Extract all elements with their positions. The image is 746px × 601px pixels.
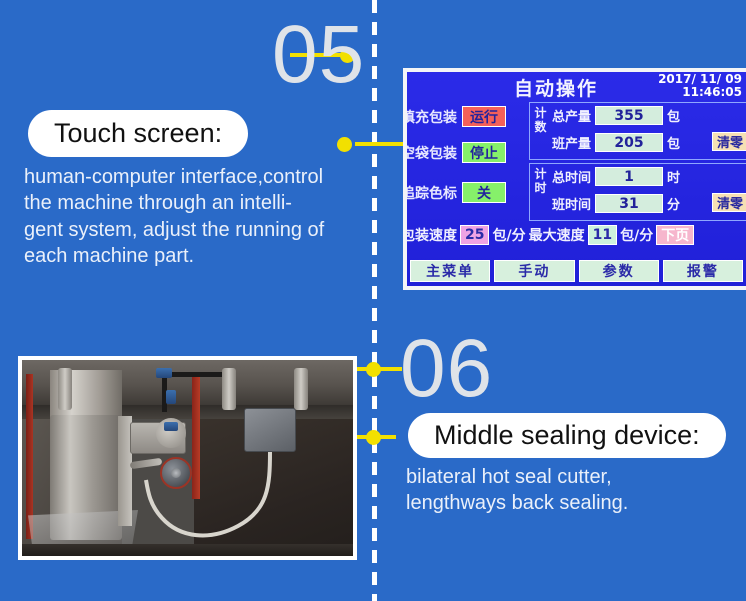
- slide-root: 05 Touch screen: human-computer interfac…: [0, 0, 746, 601]
- hmi-menu-button-main[interactable]: 主菜单: [410, 260, 490, 282]
- hmi-status-button-empty-bag[interactable]: 停止: [462, 142, 506, 163]
- hmi-status-row-color-mark: 追踪色标 关: [407, 182, 506, 203]
- photo-tube-fitting-1: [156, 368, 172, 378]
- step-description-06: bilateral hot seal cutter, lengthways ba…: [406, 464, 736, 517]
- hmi-group-count-tag: 计数: [533, 107, 548, 135]
- hmi-menu-button-alarm[interactable]: 报警: [663, 260, 743, 282]
- photo-guide-rod-3: [294, 368, 308, 410]
- hmi-status-button-color-mark[interactable]: 关: [462, 182, 506, 203]
- hmi-label-shift-output: 班产量: [552, 133, 591, 152]
- machine-photo: [22, 360, 353, 556]
- hmi-unit-shift-time: 分: [667, 194, 680, 213]
- hmi-unit-total-time: 时: [667, 167, 680, 186]
- photo-red-post-left: [26, 374, 33, 539]
- hmi-title: 自动操作: [514, 74, 598, 101]
- hmi-unit-total-output: 包: [667, 106, 680, 125]
- vertical-dashed-divider: [372, 0, 377, 601]
- photo-guide-rod-2: [222, 368, 236, 410]
- connector-dot-step-05-screen: [337, 137, 352, 152]
- hmi-label-max-speed: 最大速度: [529, 225, 585, 245]
- photo-sensor-cable: [118, 452, 303, 556]
- hmi-status-button-fill-packing[interactable]: 运行: [462, 106, 506, 127]
- hmi-menu-button-parameters[interactable]: 参数: [579, 260, 659, 282]
- connector-dot-step-06-number: [366, 362, 381, 377]
- hmi-status-row-empty-bag: 空袋包装 停止: [407, 142, 506, 163]
- hmi-time: 11:46:05: [682, 86, 742, 100]
- hmi-menu-button-manual[interactable]: 手动: [494, 260, 574, 282]
- hmi-row-total-time: 总时间 1 时: [552, 167, 680, 186]
- hmi-next-page-button[interactable]: 下页: [656, 225, 694, 245]
- hmi-group-timer: 计时 总时间 1 时 班时间 31 分: [529, 163, 746, 221]
- hmi-value-packing-speed[interactable]: 25: [460, 225, 489, 245]
- hmi-speed-bar: 包装速度 25 包/分 最大速度 11 包/分 下页: [407, 224, 746, 246]
- hmi-label-shift-time: 班时间: [552, 194, 591, 213]
- photo-tube-fitting-2: [166, 390, 176, 404]
- hmi-label-total-time: 总时间: [552, 167, 591, 186]
- hmi-row-total-output: 总产量 355 包: [552, 106, 680, 125]
- photo-floor-shadow: [22, 544, 353, 556]
- hmi-value-max-speed[interactable]: 11: [588, 225, 617, 245]
- step-number-06: 06: [400, 328, 493, 410]
- hmi-menu-bar: 主菜单 手动 参数 报警: [407, 258, 746, 284]
- photo-tube-fitting-3: [164, 422, 178, 431]
- hmi-group-count: 计数 总产量 355 包 班产量 205 包: [529, 102, 746, 160]
- hmi-group-timer-tag: 计时: [533, 168, 548, 196]
- hmi-header: 自动操作 2017/ 11/ 09 11:46:05: [407, 72, 746, 102]
- machine-photo-frame: [18, 356, 357, 560]
- hmi-label-total-output: 总产量: [552, 106, 591, 125]
- hmi-row-shift-output: 班产量 205 包: [552, 133, 680, 152]
- hmi-unit-shift-output: 包: [667, 133, 680, 152]
- hmi-row-shift-time: 班时间 31 分: [552, 194, 680, 213]
- hmi-label-packing-speed: 包装速度: [407, 225, 457, 245]
- step-title-pill-06: Middle sealing device:: [408, 413, 726, 458]
- hmi-status-label-empty-bag: 空袋包装: [407, 143, 457, 163]
- step-title-pill-05: Touch screen:: [28, 110, 248, 157]
- hmi-clear-button-shift-output[interactable]: 清零: [712, 132, 746, 151]
- photo-guide-rod-1: [58, 368, 72, 410]
- connector-dot-step-06-photo: [366, 430, 381, 445]
- hmi-screen[interactable]: 自动操作 2017/ 11/ 09 11:46:05 填充包装 运行 空袋包装 …: [407, 72, 746, 286]
- step-number-05: 05: [272, 14, 365, 96]
- hmi-unit-max-speed: 包/分: [620, 225, 653, 245]
- hmi-value-shift-output[interactable]: 205: [595, 133, 663, 152]
- hmi-value-total-time[interactable]: 1: [595, 167, 663, 186]
- hmi-value-total-output[interactable]: 355: [595, 106, 663, 125]
- hmi-unit-packing-speed: 包/分: [492, 225, 525, 245]
- hmi-value-shift-time[interactable]: 31: [595, 194, 663, 213]
- hmi-clear-button-shift-time[interactable]: 清零: [712, 193, 746, 212]
- photo-junction-box: [244, 408, 296, 452]
- hmi-status-label-color-mark: 追踪色标: [407, 183, 457, 203]
- hmi-status-label-fill-packing: 填充包装: [407, 107, 457, 127]
- hmi-bezel: 自动操作 2017/ 11/ 09 11:46:05 填充包装 运行 空袋包装 …: [403, 68, 746, 290]
- step-description-05: human-computer interface,control the mac…: [24, 164, 354, 270]
- connector-line-step-05-screen: [355, 142, 410, 146]
- hmi-status-row-fill-packing: 填充包装 运行: [407, 106, 506, 127]
